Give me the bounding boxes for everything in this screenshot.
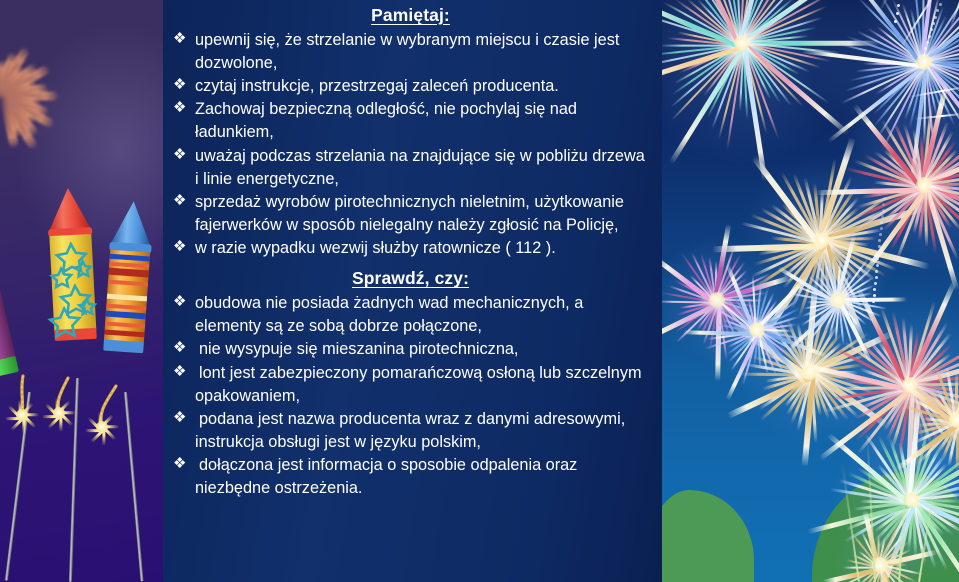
firework-core [734,35,750,51]
trail-dot [872,300,875,303]
diamond-bullet-icon: ❖ [173,453,186,476]
trail-dot [880,227,883,230]
left-illustration-panel [0,0,163,582]
orange-firework-burst [0,38,58,154]
firework-core [904,492,920,508]
list-item-text: lont jest zabezpieczony pomarańczową osł… [195,364,642,405]
trail-dot [881,215,884,218]
fuse-spark-3 [85,410,119,444]
diamond-bullet-icon: ❖ [173,236,186,259]
diamond-bullet-icon: ❖ [173,144,186,167]
list-item: ❖ nie wysypuje się mieszanina pirotechni… [169,338,652,361]
safety-text-panel: Pamiętaj: ❖ upewnij się, że strzelanie w… [163,0,662,582]
list-item: ❖ obudowa nie posiada żadnych wad mechan… [169,292,652,338]
trail-dot [874,282,877,285]
list-item-text: obudowa nie posiada żadnych wad mechanic… [195,294,583,335]
diamond-bullet-icon: ❖ [173,361,186,384]
list-item-text: dołączona jest informacja o sposobie odp… [195,456,577,497]
spark-core [96,421,108,433]
list-item: ❖ w razie wypadku wezwij służby ratownic… [169,237,652,260]
remember-list: ❖ upewnij się, że strzelanie w wybranym … [169,29,652,260]
list-item-text: nie wysypuje się mieszanina pirotechnicz… [195,340,518,358]
firework-core [830,292,846,308]
trail-dot [939,3,942,6]
list-item-text: upewnij się, że strzelanie w wybranym mi… [195,31,619,72]
list-item: ❖ czytaj instrukcje, przestrzegaj zalece… [169,75,652,98]
trail-dot [875,270,878,273]
trail-dot [875,276,878,279]
trail-dot [873,294,876,297]
list-item-text: w razie wypadku wezwij służby ratownicze… [195,239,556,257]
trail-dot [928,35,931,38]
trail-dot [876,264,879,267]
list-item-text: podana jest nazwa producenta wraz z dany… [195,410,625,451]
list-item: ❖ Zachowaj bezpieczną odległość, nie poc… [169,98,652,144]
green-hill-left [662,490,754,582]
diamond-bullet-icon: ❖ [173,337,186,360]
fuse-spark-2 [42,396,76,430]
trail-dot [894,20,897,23]
right-illustration-panel [662,0,959,582]
trail-dot [883,197,886,200]
trail-dot [920,60,923,63]
list-item-text: czytaj instrukcje, przestrzegaj zaleceń … [195,77,559,95]
list-item: ❖ uważaj podczas strzelania na znajdując… [169,145,652,191]
fuse-spark-1 [5,398,39,432]
check-list: ❖ obudowa nie posiada żadnych wad mechan… [169,292,652,500]
firework-core [814,232,830,248]
list-item: ❖ dołączona jest informacja o sposobie o… [169,454,652,500]
list-item: ❖ podana jest nazwa producenta wraz z da… [169,408,652,454]
diamond-bullet-icon: ❖ [173,291,186,314]
yellow-star-rocket-art [42,186,104,401]
fireworks-safety-poster: Pamiętaj: ❖ upewnij się, że strzelanie w… [0,0,959,582]
trail-dot [882,209,885,212]
list-item-text: sprzedaż wyrobów pirotechnicznych nielet… [195,193,624,234]
diamond-bullet-icon: ❖ [173,407,186,430]
spark-core [16,409,28,421]
list-item: ❖ upewnij się, że strzelanie w wybranym … [169,29,652,75]
diamond-bullet-icon: ❖ [173,97,186,120]
list-item: ❖ sprzedaż wyrobów pirotechnicznych niel… [169,191,652,237]
diamond-bullet-icon: ❖ [173,74,186,97]
firework-core [949,412,959,428]
list-item-text: Zachowaj bezpieczną odległość, nie pochy… [195,100,577,141]
diamond-bullet-icon: ❖ [173,28,186,51]
section-heading-remember: Pamiętaj: [169,5,652,27]
yellow-star-rocket [42,186,104,401]
diamond-bullet-icon: ❖ [173,190,186,213]
list-item: ❖ lont jest zabezpieczony pomarańczową o… [169,362,652,408]
spark-core [53,407,65,419]
trail-dot [922,54,925,57]
section-heading-check: Sprawdź, czy: [169,268,652,290]
firework-core [749,322,765,338]
trail-dot [896,12,899,15]
firework-core [916,177,932,193]
list-item-text: uważaj podczas strzelania na znajdujące … [195,147,645,188]
